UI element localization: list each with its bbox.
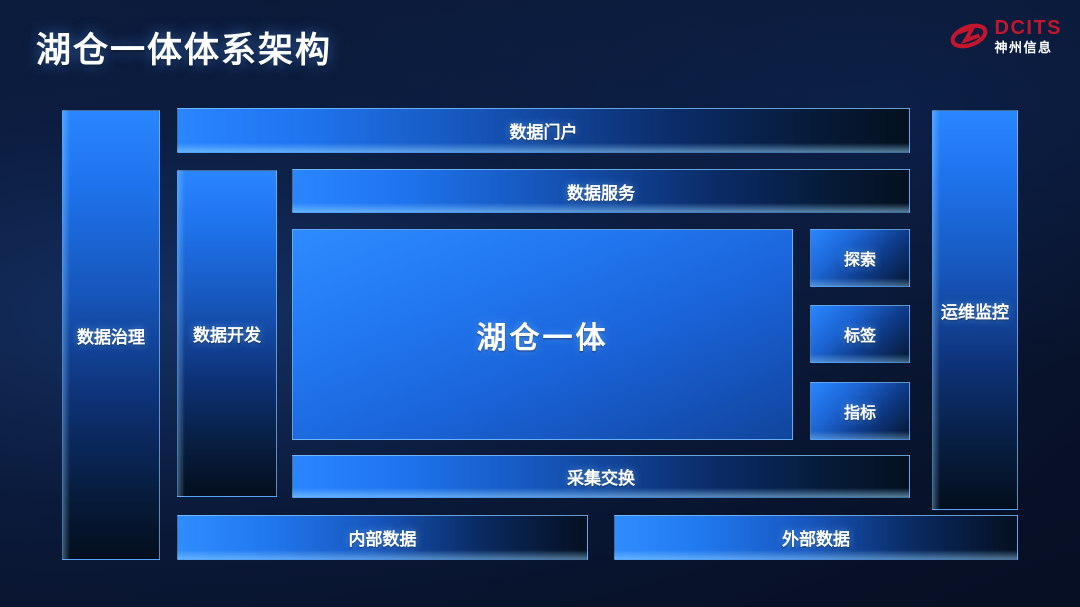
block-ops-monitoring[interactable]: 运维监控 <box>932 110 1018 510</box>
block-explore[interactable]: 探索 <box>810 229 910 287</box>
block-label: 外部数据 <box>782 525 850 550</box>
block-tag[interactable]: 标签 <box>810 305 910 363</box>
brand-logo-text: DCITS 神州信息 <box>995 18 1063 54</box>
block-data-governance[interactable]: 数据治理 <box>62 110 160 560</box>
block-collect-exchange[interactable]: 采集交换 <box>292 455 910 498</box>
block-label: 数据门户 <box>510 118 578 143</box>
block-label: 运维监控 <box>941 298 1009 323</box>
block-label: 内部数据 <box>349 525 417 550</box>
block-label: 采集交换 <box>567 464 635 489</box>
block-internal-data[interactable]: 内部数据 <box>177 515 588 560</box>
block-data-service[interactable]: 数据服务 <box>292 169 910 213</box>
block-metric[interactable]: 指标 <box>810 382 910 440</box>
block-label: 标签 <box>844 322 876 346</box>
page-title: 湖仓一体体系架构 <box>36 22 332 73</box>
brand-name-cn: 神州信息 <box>995 41 1063 54</box>
block-label: 数据服务 <box>567 179 635 204</box>
slide-canvas: 湖仓一体体系架构 DCITS 神州信息 数据治理 数据开发 数据门户 数据服务 <box>0 0 1080 607</box>
block-label: 探索 <box>844 246 876 270</box>
block-label: 湖仓一体 <box>477 313 609 357</box>
brand-logo: DCITS 神州信息 <box>950 18 1063 54</box>
dcits-swirl-logo-icon <box>950 19 988 53</box>
brand-name-en: DCITS <box>995 18 1063 38</box>
block-lakehouse[interactable]: 湖仓一体 <box>292 229 793 440</box>
block-external-data[interactable]: 外部数据 <box>614 515 1018 560</box>
block-data-development[interactable]: 数据开发 <box>177 170 277 497</box>
block-label: 数据治理 <box>77 323 145 348</box>
block-label: 数据开发 <box>193 321 261 346</box>
block-label: 指标 <box>844 399 876 423</box>
block-data-portal[interactable]: 数据门户 <box>177 108 910 153</box>
